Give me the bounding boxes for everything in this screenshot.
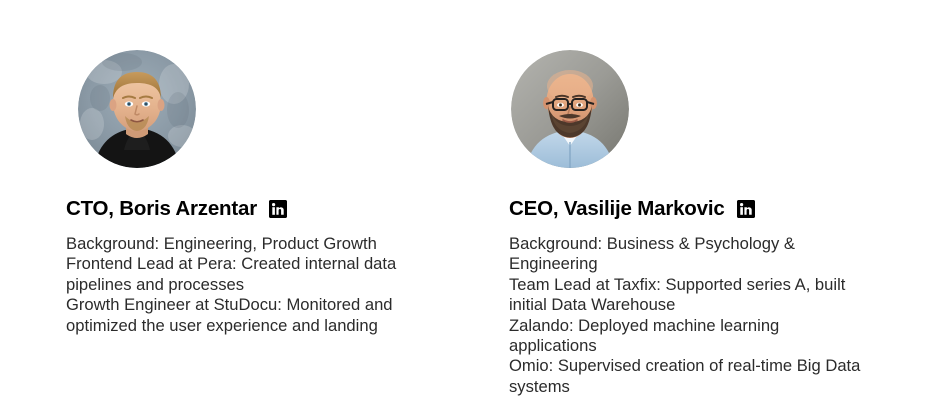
linkedin-icon[interactable] <box>269 200 287 218</box>
avatar-boris-arzentar <box>78 50 196 168</box>
team-member-card-ceo: CEO, Vasilije Markovic Background: Busin… <box>509 0 929 168</box>
page-title-cto: CTO, Boris Arzentar <box>66 196 257 222</box>
team-member-card-cto: CTO, Boris Arzentar Background: Engineer… <box>66 0 486 168</box>
avatar-vasilije-markovic <box>511 50 629 168</box>
member-name-row: CTO, Boris Arzentar <box>66 196 287 222</box>
team-member-grid: CTO, Boris Arzentar Background: Engineer… <box>0 0 948 412</box>
member-bio-ceo: Background: Business & Psychology & Engi… <box>509 234 869 397</box>
linkedin-icon[interactable] <box>737 200 755 218</box>
page-title-ceo: CEO, Vasilije Markovic <box>509 196 725 222</box>
member-bio-cto: Background: Engineering, Product Growth … <box>66 234 416 336</box>
member-name-row: CEO, Vasilije Markovic <box>509 196 755 222</box>
